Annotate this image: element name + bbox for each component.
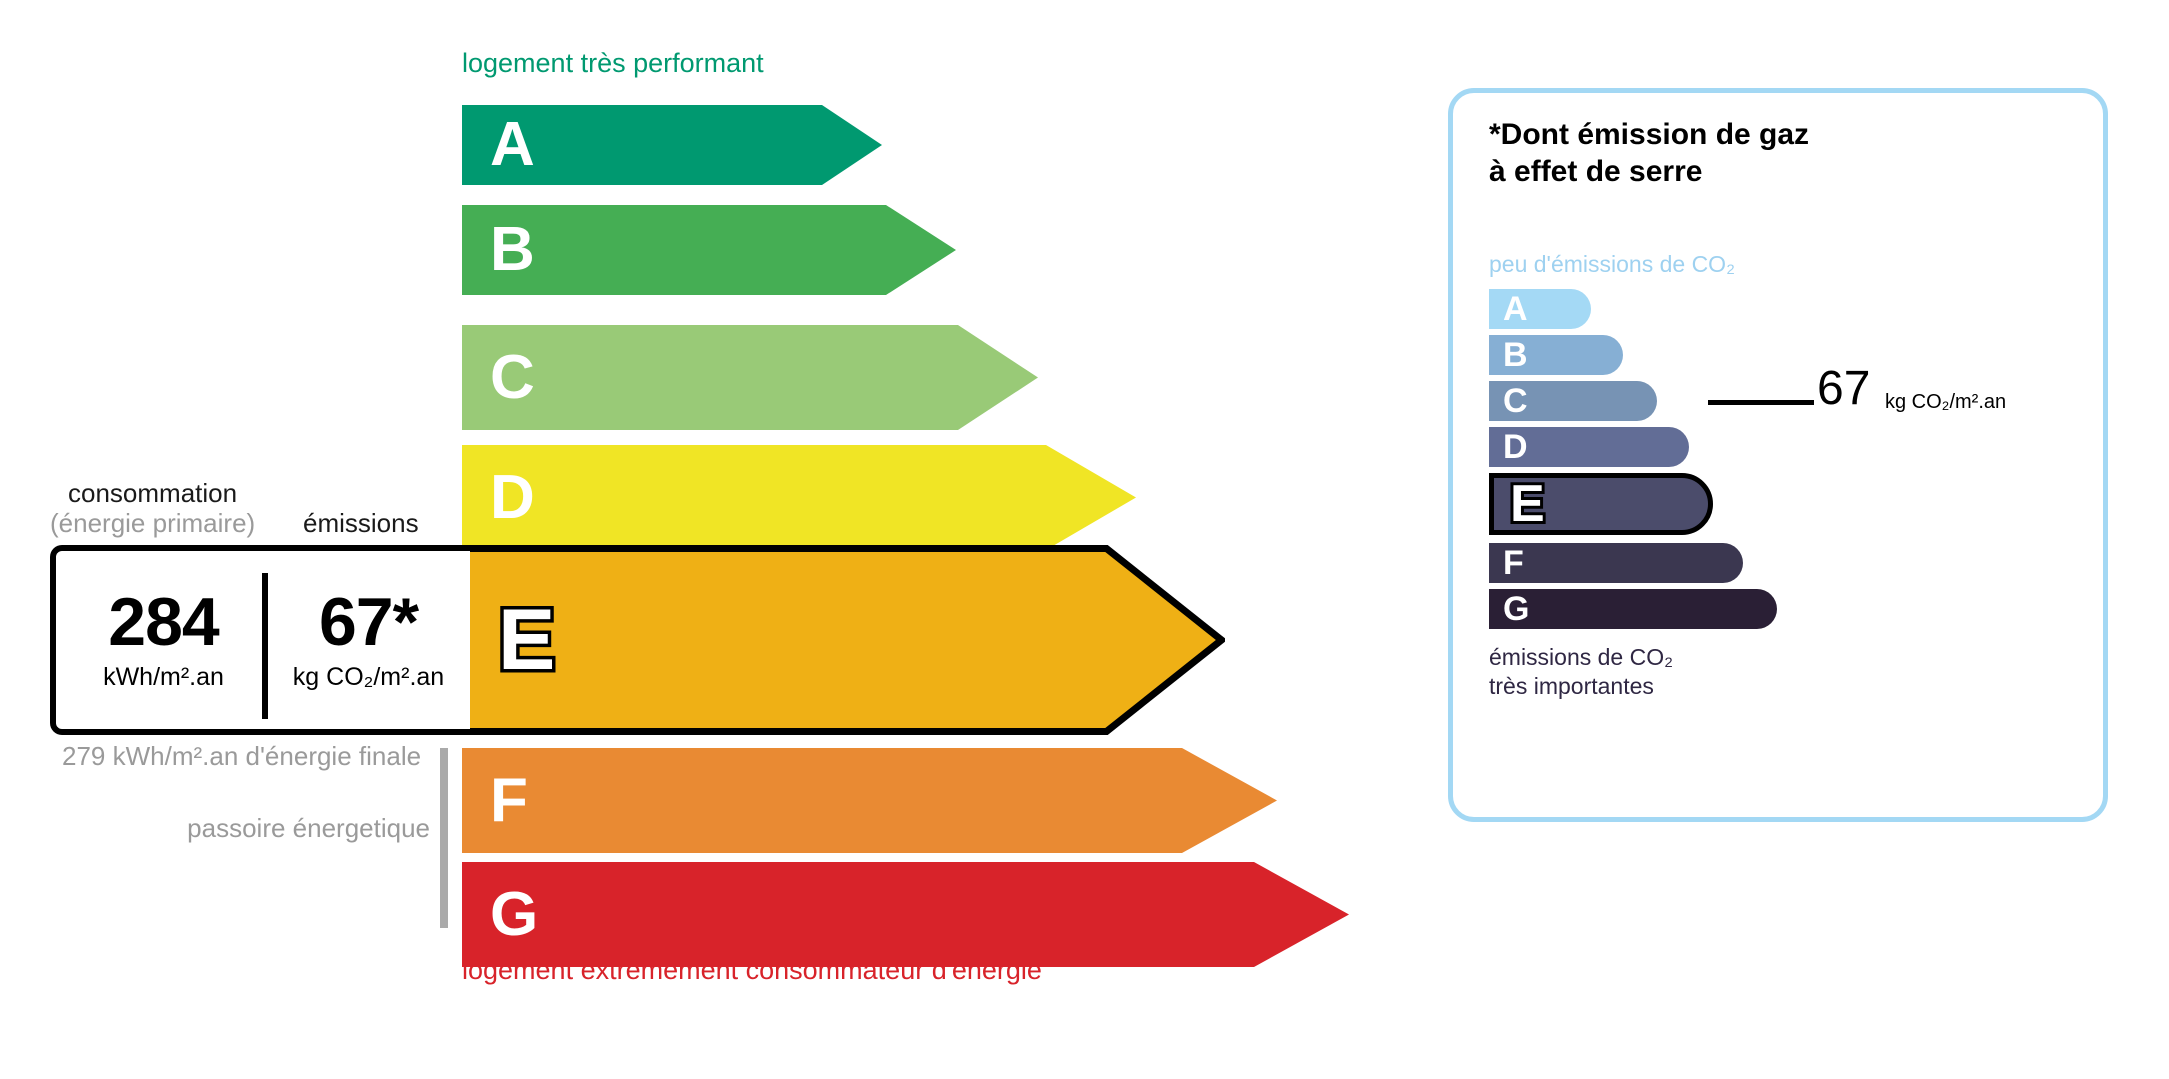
energy-class-letter-d: D [490,467,535,529]
energy-class-letter-f: F [490,770,528,832]
co2-class-letter-f: F [1503,546,1524,580]
energy-top-caption: logement très performant [462,48,764,79]
co2-callout-unit: kg CO₂/m².an [1885,391,2006,414]
co2-class-bar-g: G [1489,589,1777,629]
co2-class-bar-c: C [1489,381,1657,421]
energy-class-letter-g: G [490,884,538,946]
energy-class-letter-c: C [490,347,535,409]
label-consommation: consommation [68,478,237,509]
primary-energy-value-group: 284 kWh/m².an [66,551,261,729]
co2-callout-leader-line [1708,400,1814,405]
co2-emissions-panel: *Dont émission de gaz à effet de serre p… [1448,88,2108,822]
co2-class-bar-b: B [1489,335,1623,375]
energy-performance-chart: logement très performant ABCDEFG logemen… [0,0,1400,1079]
energy-class-letter-a: A [490,114,535,176]
value-box-divider [262,573,268,719]
co2-class-bar-a: A [1489,289,1591,329]
energy-class-letter-b: B [490,219,535,281]
co2-panel-title: *Dont émission de gaz à effet de serre [1489,117,1809,190]
energy-class-letter-e: E [498,597,555,683]
energy-class-arrow-d: D [462,445,1136,550]
label-energie-finale: 279 kWh/m².an d'énergie finale [62,740,421,773]
energy-class-arrow-c: C [462,325,1038,430]
co2-callout-value: 67 [1817,365,1870,413]
label-passoire-energetique: passoire énergetique [180,812,430,845]
co2-class-letter-g: G [1503,592,1529,626]
label-energie-primaire: (énergie primaire) [50,508,255,539]
primary-energy-number: 284 [108,588,218,656]
co2-class-letter-a: A [1503,292,1528,326]
energy-bottom-caption: logement extrêmement consommateur d'éner… [462,955,1042,986]
label-emissions: émissions [303,508,419,539]
primary-energy-unit: kWh/m².an [103,663,224,692]
consumption-value-box: 284 kWh/m².an 67* kg CO₂/m².an [50,545,470,735]
co2-class-bar-f: F [1489,543,1743,583]
passoire-indicator-bar [440,748,448,928]
co2-class-letter-b: B [1503,338,1528,372]
co2-class-letter-d: D [1503,430,1528,464]
co2-top-caption: peu d'émissions de CO₂ [1489,251,1735,278]
energy-class-arrow-e: E [462,545,1225,735]
co2-class-letter-c: C [1503,384,1528,418]
co2-value-group: 67* kg CO₂/m².an [271,551,466,729]
energy-class-arrow-b: B [462,205,956,295]
co2-class-letter-e: E [1510,478,1545,530]
energy-class-arrow-g: G [462,862,1349,967]
energy-class-arrow-a: A [462,105,882,185]
co2-number: 67* [319,588,418,656]
energy-class-arrow-f: F [462,748,1277,853]
co2-bottom-caption: émissions de CO₂ très importantes [1489,643,1673,700]
co2-unit: kg CO₂/m².an [293,663,444,692]
co2-class-bar-e: E [1489,473,1713,535]
co2-class-bar-d: D [1489,427,1689,467]
